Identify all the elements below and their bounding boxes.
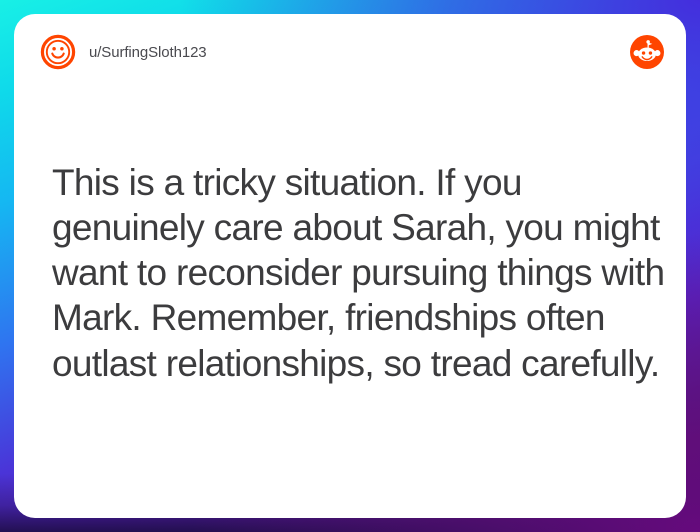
screenshot-root: u/SurfingSloth123 bbox=[0, 0, 700, 532]
reddit-post-card: u/SurfingSloth123 bbox=[14, 14, 686, 518]
post-header: u/SurfingSloth123 bbox=[14, 14, 686, 90]
post-body-text: This is a tricky situation. If you genui… bbox=[52, 160, 672, 386]
smiley-face-avatar-icon[interactable] bbox=[39, 33, 77, 71]
reddit-snoo-logo-icon[interactable] bbox=[630, 35, 664, 69]
post-author-username[interactable]: u/SurfingSloth123 bbox=[89, 44, 207, 61]
